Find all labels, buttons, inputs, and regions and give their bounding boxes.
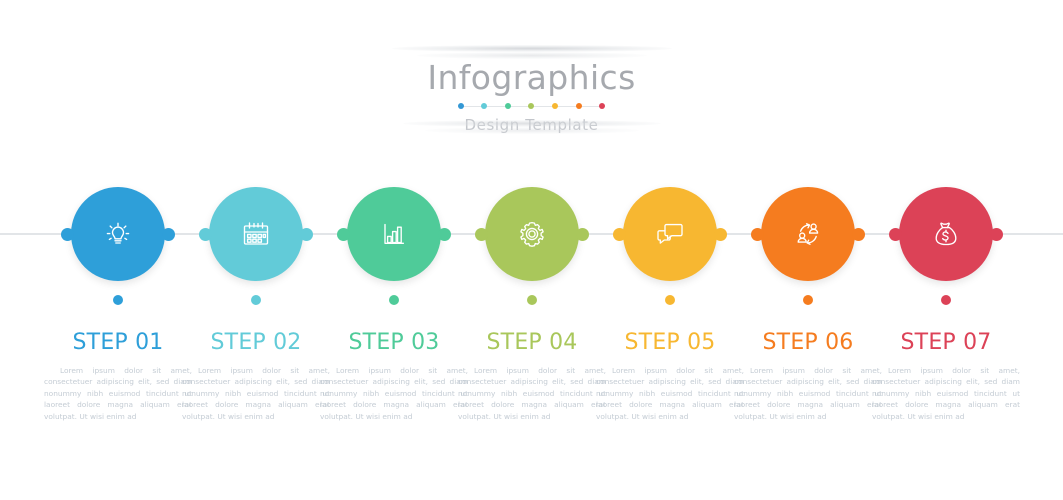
step-description-3: Lorem ipsum dolor sit amet, consectetuer…	[314, 365, 474, 422]
connector-dot-right-7	[990, 228, 1003, 241]
gear-icon	[511, 213, 553, 255]
bar-chart-icon	[374, 214, 414, 254]
step-label-3: STEP 03	[314, 330, 474, 355]
money-bag-icon	[925, 213, 967, 255]
connector-dot-left-7	[889, 228, 902, 241]
step-marker-dot-7	[941, 295, 951, 305]
timeline-node-2[interactable]	[186, 170, 326, 325]
step-description-2: Lorem ipsum dolor sit amet, consectetuer…	[176, 365, 336, 422]
connector-dot-right-2	[300, 228, 313, 241]
connector-dot-left-1	[61, 228, 74, 241]
step-label-2: STEP 02	[176, 330, 336, 355]
step-caption-6: STEP 06Lorem ipsum dolor sit amet, conse…	[728, 330, 888, 422]
step-description-4: Lorem ipsum dolor sit amet, consectetuer…	[452, 365, 612, 422]
connector-dot-left-4	[475, 228, 488, 241]
step-marker-dot-3	[389, 295, 399, 305]
header-dot-5	[552, 103, 558, 109]
lightbulb-icon	[98, 214, 138, 254]
step-circle-4[interactable]	[485, 187, 579, 281]
page-title: Infographics	[0, 58, 1063, 97]
step-caption-4: STEP 04Lorem ipsum dolor sit amet, conse…	[452, 330, 612, 422]
step-label-4: STEP 04	[452, 330, 612, 355]
chat-bubbles-icon	[649, 213, 691, 255]
timeline-node-5[interactable]	[600, 170, 740, 325]
step-caption-3: STEP 03Lorem ipsum dolor sit amet, conse…	[314, 330, 474, 422]
step-marker-dot-5	[665, 295, 675, 305]
step-description-1: Lorem ipsum dolor sit amet, consectetuer…	[38, 365, 198, 422]
step-label-5: STEP 05	[590, 330, 750, 355]
connector-dot-right-4	[576, 228, 589, 241]
user-exchange-icon	[787, 213, 829, 255]
timeline-node-3[interactable]	[324, 170, 464, 325]
step-label-7: STEP 07	[866, 330, 1026, 355]
step-description-5: Lorem ipsum dolor sit amet, consectetuer…	[590, 365, 750, 422]
step-label-6: STEP 06	[728, 330, 888, 355]
step-circle-7[interactable]	[899, 187, 993, 281]
header-dot-1	[458, 103, 464, 109]
timeline-node-1[interactable]	[48, 170, 188, 325]
connector-dot-right-6	[852, 228, 865, 241]
banner-texture-streak-bottom	[403, 120, 661, 127]
step-description-7: Lorem ipsum dolor sit amet, consectetuer…	[866, 365, 1026, 422]
header-dot-7	[599, 103, 605, 109]
step-label-1: STEP 01	[38, 330, 198, 355]
step-caption-7: STEP 07Lorem ipsum dolor sit amet, conse…	[866, 330, 1026, 422]
step-marker-dot-6	[803, 295, 813, 305]
connector-dot-right-5	[714, 228, 727, 241]
step-marker-dot-2	[251, 295, 261, 305]
step-caption-5: STEP 05Lorem ipsum dolor sit amet, conse…	[590, 330, 750, 422]
step-circle-3[interactable]	[347, 187, 441, 281]
step-circle-1[interactable]	[71, 187, 165, 281]
banner-texture-streak-bottom-secondary	[425, 127, 639, 134]
step-circle-2[interactable]	[209, 187, 303, 281]
step-description-6: Lorem ipsum dolor sit amet, consectetuer…	[728, 365, 888, 422]
connector-dot-left-2	[199, 228, 212, 241]
connector-dot-left-6	[751, 228, 764, 241]
process-timeline	[0, 170, 1063, 325]
header-banner: Infographics Design Template	[0, 44, 1063, 130]
timeline-node-6[interactable]	[738, 170, 878, 325]
connector-dot-right-1	[162, 228, 175, 241]
step-circle-5[interactable]	[623, 187, 717, 281]
header-dot-strip	[458, 101, 606, 111]
calendar-icon	[235, 213, 277, 255]
step-marker-dot-4	[527, 295, 537, 305]
timeline-node-4[interactable]	[462, 170, 602, 325]
connector-dot-left-5	[613, 228, 626, 241]
header-dot-2	[481, 103, 487, 109]
step-caption-2: STEP 02Lorem ipsum dolor sit amet, conse…	[176, 330, 336, 422]
step-circle-6[interactable]	[761, 187, 855, 281]
connector-dot-right-3	[438, 228, 451, 241]
connector-dot-left-3	[337, 228, 350, 241]
banner-texture-streak-top	[392, 45, 672, 52]
step-captions: STEP 01Lorem ipsum dolor sit amet, conse…	[0, 330, 1063, 450]
header-dot-3	[505, 103, 511, 109]
header-dot-4	[528, 103, 534, 109]
timeline-node-7[interactable]	[876, 170, 1016, 325]
header-dot-6	[576, 103, 582, 109]
step-marker-dot-1	[113, 295, 123, 305]
step-caption-1: STEP 01Lorem ipsum dolor sit amet, conse…	[38, 330, 198, 422]
